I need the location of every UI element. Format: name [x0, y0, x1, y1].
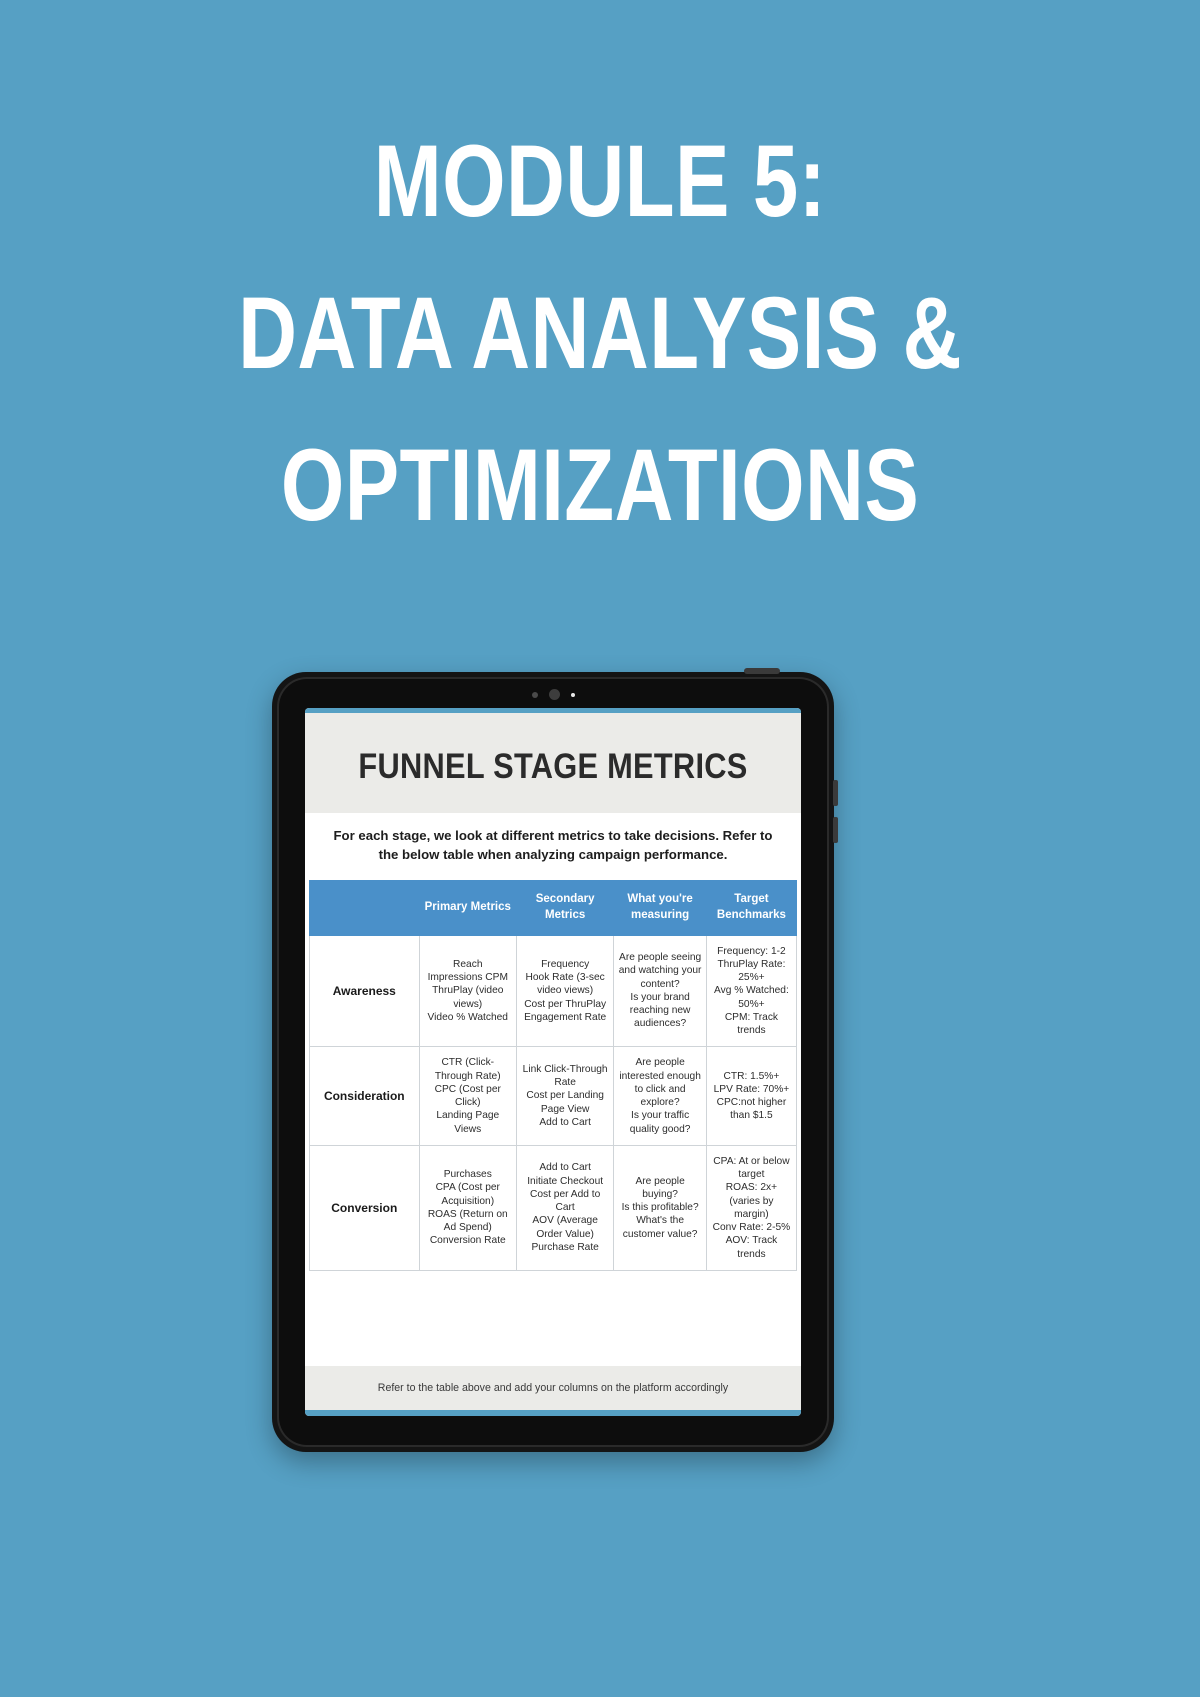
- title-line-1: Module 5:: [120, 130, 1080, 232]
- column-header-target-benchmarks: Target Benchmarks: [706, 881, 796, 935]
- cell-primary-metrics: ReachImpressions CPMThruPlay (video view…: [419, 935, 516, 1047]
- column-header-stage: [310, 881, 420, 935]
- title-line-3: Optimizations: [120, 434, 1080, 536]
- table-header: Primary Metrics Secondary Metrics What y…: [310, 881, 797, 935]
- camera-icon: [549, 689, 560, 700]
- cell-secondary-metrics: Link Click-Through RateCost per Landing …: [516, 1047, 613, 1146]
- cell-what-measuring: Are people seeing and watching your cont…: [614, 935, 707, 1047]
- document-title: Funnel Stage Metrics: [351, 747, 756, 787]
- table-row: Consideration CTR (Click-Through Rate)CP…: [310, 1047, 797, 1146]
- document-page: Funnel Stage Metrics For each stage, we …: [305, 713, 801, 1410]
- document-header: Funnel Stage Metrics: [305, 713, 801, 813]
- power-button[interactable]: [744, 668, 780, 674]
- cell-primary-metrics: CTR (Click-Through Rate)CPC (Cost per Cl…: [419, 1047, 516, 1146]
- cell-secondary-metrics: Add to CartInitiate CheckoutCost per Add…: [516, 1145, 613, 1270]
- screen-bottom-strip: [305, 1410, 801, 1416]
- cell-stage: Awareness: [310, 935, 420, 1047]
- table-body: Awareness ReachImpressions CPMThruPlay (…: [310, 935, 797, 1270]
- indicator-light-icon: [571, 693, 575, 697]
- cell-primary-metrics: PurchasesCPA (Cost per Acquisition)ROAS …: [419, 1145, 516, 1270]
- tablet-device: Funnel Stage Metrics For each stage, we …: [272, 672, 834, 1452]
- cell-what-measuring: Are people interested enough to click an…: [614, 1047, 707, 1146]
- cell-what-measuring: Are people buying?Is this profitable?Wha…: [614, 1145, 707, 1270]
- volume-up-button[interactable]: [833, 780, 838, 806]
- metrics-table-container: Primary Metrics Secondary Metrics What y…: [305, 880, 801, 1270]
- table-row: Conversion PurchasesCPA (Cost per Acquis…: [310, 1145, 797, 1270]
- volume-down-button[interactable]: [833, 817, 838, 843]
- cell-target-benchmarks: CPA: At or below targetROAS: 2x+ (varies…: [706, 1145, 796, 1270]
- page-title: Module 5: Data Analysis & Optimizations: [0, 130, 1200, 536]
- cell-stage: Conversion: [310, 1145, 420, 1270]
- cell-target-benchmarks: Frequency: 1-2ThruPlay Rate: 25%+Avg % W…: [706, 935, 796, 1047]
- tablet-screen: Funnel Stage Metrics For each stage, we …: [305, 708, 801, 1416]
- document-whitespace: [305, 1271, 801, 1366]
- column-header-primary-metrics: Primary Metrics: [419, 881, 516, 935]
- table-header-row: Primary Metrics Secondary Metrics What y…: [310, 881, 797, 935]
- metrics-table: Primary Metrics Secondary Metrics What y…: [309, 880, 797, 1270]
- document-footer: Refer to the table above and add your co…: [305, 1366, 801, 1410]
- table-row: Awareness ReachImpressions CPMThruPlay (…: [310, 935, 797, 1047]
- column-header-what-measuring: What you're measuring: [614, 881, 707, 935]
- title-line-2: Data Analysis &: [120, 282, 1080, 384]
- sensor-icon: [532, 692, 538, 698]
- cell-secondary-metrics: FrequencyHook Rate (3-sec video views)Co…: [516, 935, 613, 1047]
- column-header-secondary-metrics: Secondary Metrics: [516, 881, 613, 935]
- cell-target-benchmarks: CTR: 1.5%+LPV Rate: 70%+CPC:not higher t…: [706, 1047, 796, 1146]
- cell-stage: Consideration: [310, 1047, 420, 1146]
- camera-array: [272, 689, 834, 700]
- document-subtitle: For each stage, we look at different met…: [305, 813, 801, 880]
